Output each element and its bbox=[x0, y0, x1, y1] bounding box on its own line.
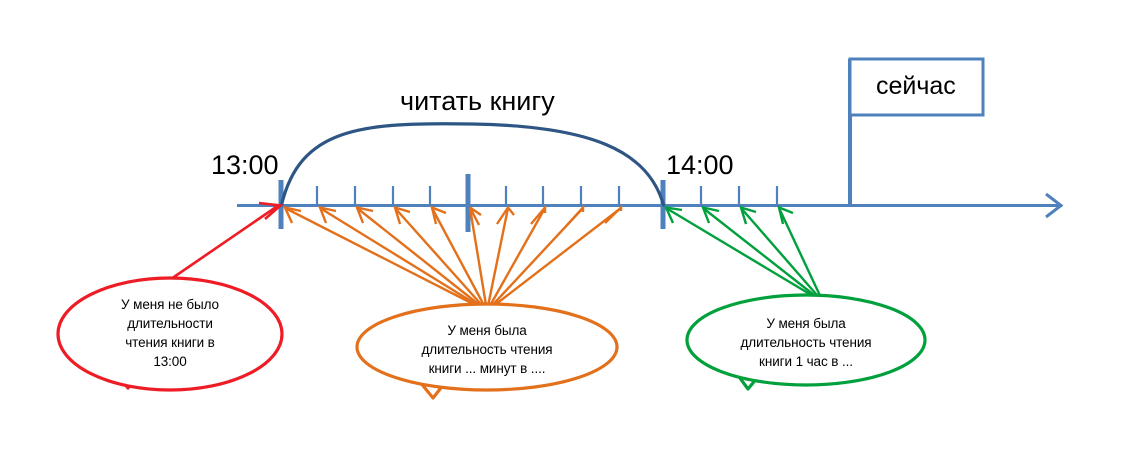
orange-callout-line: У меня была bbox=[367, 321, 607, 340]
green-arrow-shaft bbox=[703, 208, 823, 302]
red-pointer-group bbox=[171, 203, 281, 279]
duration-span-arc bbox=[282, 124, 664, 205]
orange-pointer-group bbox=[285, 208, 621, 312]
end-time-label: 14:00 bbox=[666, 152, 734, 179]
start-time-label: 13:00 bbox=[211, 152, 279, 179]
green-callout-line: длительность чтения bbox=[692, 333, 920, 352]
red-callout-line: У меня не было bbox=[70, 295, 270, 314]
red-arrow-shaft bbox=[171, 205, 279, 279]
red-callout-line: чтения книги в bbox=[70, 333, 270, 352]
red-callout-line: 13:00 bbox=[70, 352, 270, 371]
orange-callout-line: длительность чтения bbox=[367, 340, 607, 359]
now-flag-label: сейчас bbox=[876, 74, 956, 99]
red-callout-text: У меня не было длительности чтения книги… bbox=[70, 295, 270, 372]
green-pointer-group bbox=[666, 208, 823, 303]
orange-arrowhead-icon bbox=[568, 208, 583, 225]
green-callout-line: У меня была bbox=[692, 314, 920, 333]
orange-callout-text: У меня была длительность чтения книги ..… bbox=[367, 321, 607, 378]
red-callout-line: длительности bbox=[70, 314, 270, 333]
timeline-diagram: читать книгу 13:00 14:00 сейчас У меня н… bbox=[0, 0, 1137, 464]
timeline-ticks bbox=[281, 174, 777, 232]
span-label: читать книгу bbox=[400, 88, 555, 115]
orange-arrow-shaft bbox=[285, 208, 487, 311]
green-callout-line: книги 1 час в ... bbox=[692, 352, 920, 371]
diagram-canvas bbox=[0, 0, 1137, 464]
timeline-axis bbox=[237, 194, 1062, 217]
orange-arrowhead-icon bbox=[605, 208, 621, 224]
orange-callout-line: книги ... минут в .... bbox=[367, 359, 607, 378]
orange-arrow-shaft bbox=[487, 208, 621, 311]
orange-arrow-shaft bbox=[320, 208, 487, 311]
green-callout-text: У меня была длительность чтения книги 1 … bbox=[692, 314, 920, 371]
